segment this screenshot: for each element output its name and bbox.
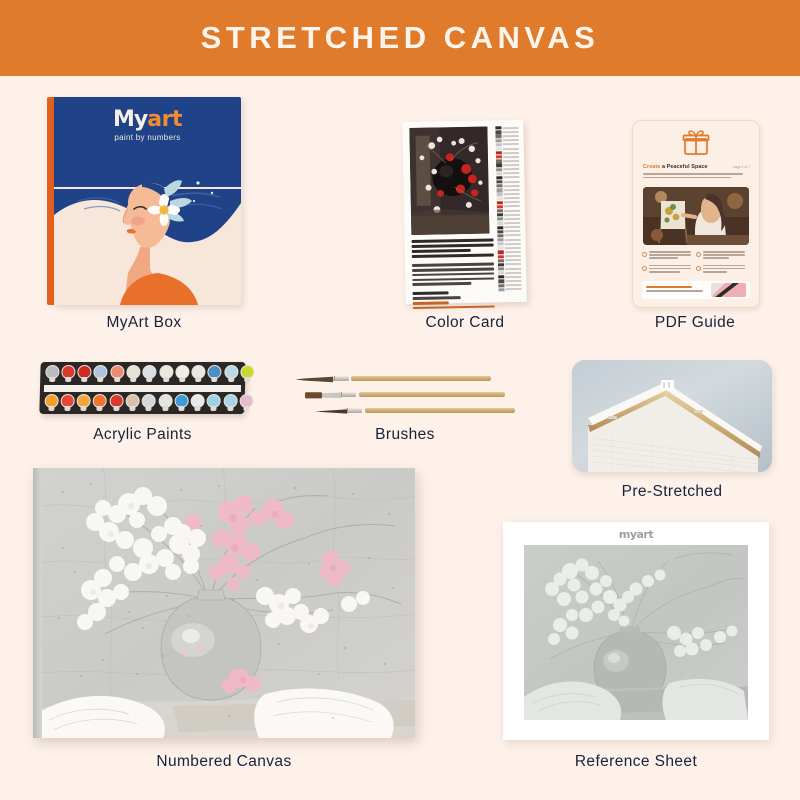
paint-pot-tab xyxy=(130,377,136,382)
color-swatch-chip xyxy=(496,151,502,154)
card-contact-line xyxy=(413,305,495,309)
reference-sheet-paper: myart xyxy=(503,522,769,740)
paint-pot xyxy=(92,394,107,411)
acrylic-paints-image xyxy=(40,362,245,414)
paint-pot xyxy=(223,394,238,411)
reference-sheet-artwork xyxy=(524,545,748,720)
color-swatch-chip xyxy=(496,164,502,167)
paint-pot-tab xyxy=(178,406,184,411)
color-swatch-chip xyxy=(497,213,503,216)
color-swatch-number xyxy=(505,259,521,261)
card-total-line xyxy=(413,292,449,296)
pre-stretched-image xyxy=(572,360,772,472)
color-swatch-number xyxy=(504,230,520,232)
color-swatch-chip xyxy=(496,155,502,158)
color-swatch-number xyxy=(503,176,519,178)
color-swatch-chip xyxy=(497,222,503,225)
color-swatch-number xyxy=(505,288,521,290)
bullet-dot-icon xyxy=(696,266,701,271)
color-swatch-chip xyxy=(497,234,503,237)
color-swatch-number xyxy=(503,181,519,183)
paint-pot-tab xyxy=(212,377,218,382)
brushes-image xyxy=(295,370,515,418)
paint-pot xyxy=(239,394,254,411)
numbered-canvas-artwork xyxy=(33,468,415,738)
color-swatch-chip xyxy=(498,267,504,270)
pdf-bullet-item xyxy=(696,251,745,261)
paint-pot xyxy=(60,365,75,382)
color-swatch-chip xyxy=(496,160,502,163)
paint-pot-tab xyxy=(48,406,54,411)
color-swatch-number xyxy=(505,255,521,257)
color-swatch-number xyxy=(503,164,519,166)
paint-pot-tab xyxy=(114,377,120,382)
card-sku-line xyxy=(413,296,461,300)
color-swatch-number xyxy=(503,189,519,191)
color-swatch-chip xyxy=(497,205,503,208)
pdf-subtext-line xyxy=(643,173,743,175)
card-note-line xyxy=(412,272,494,276)
pdf-bullet-item xyxy=(696,265,745,275)
pdf-photo xyxy=(643,187,749,245)
paint-pot xyxy=(141,394,156,411)
paint-pot-tab xyxy=(244,377,250,382)
bullet-dot-icon xyxy=(696,252,701,257)
color-swatch-number xyxy=(502,139,518,141)
pdf-heading-accent: Create xyxy=(643,164,660,170)
paint-pot xyxy=(206,394,221,411)
paint-pot xyxy=(43,394,58,411)
card-note-line xyxy=(412,263,494,267)
paint-pot-tab xyxy=(243,406,249,411)
paint-pot-tab xyxy=(227,406,233,411)
pdf-tip-line xyxy=(646,290,703,292)
color-swatch-number xyxy=(502,127,518,129)
paint-pot xyxy=(76,394,91,411)
label-reference-sheet: Reference Sheet xyxy=(503,753,769,771)
color-swatch-number xyxy=(504,210,520,212)
paint-pot-tab xyxy=(65,377,71,382)
pdf-guide-image: Create a Peaceful Space page 1 of 7 xyxy=(632,120,758,306)
paint-pot-tab xyxy=(81,377,87,382)
card-happy-line xyxy=(413,301,449,304)
paint-pot-tab xyxy=(146,377,152,382)
color-swatch-number xyxy=(504,243,520,245)
paint-pot xyxy=(126,365,141,382)
brush-tip xyxy=(315,408,347,415)
paint-pot-tab xyxy=(49,377,55,382)
label-myart-box: MyArt Box xyxy=(47,314,241,332)
pdf-tip-thumbnail xyxy=(711,283,746,297)
color-swatch-chip xyxy=(496,180,502,183)
paint-pot xyxy=(223,365,238,382)
brush-flat xyxy=(305,392,505,398)
color-swatch-chip xyxy=(496,135,502,138)
pdf-bullet-item xyxy=(642,265,691,275)
paint-pot-tab xyxy=(146,406,152,411)
color-swatch-number xyxy=(503,172,519,174)
color-swatch-chip xyxy=(498,251,504,254)
color-swatch-number xyxy=(505,263,521,265)
pdf-subtext xyxy=(643,173,743,180)
color-swatch-number xyxy=(505,284,521,286)
color-swatch-chip xyxy=(497,189,503,192)
color-swatch-chip xyxy=(498,284,504,287)
label-numbered-canvas: Numbered Canvas xyxy=(33,753,415,771)
color-swatch-number xyxy=(502,143,518,145)
pdf-heading: Create a Peaceful Space xyxy=(643,164,708,170)
color-swatch-chip xyxy=(496,168,502,171)
color-swatch-chip xyxy=(498,242,504,245)
paint-pot-tab xyxy=(64,406,70,411)
paint-pot-tab xyxy=(113,406,119,411)
color-swatch-number xyxy=(504,226,520,228)
brush-round-fine xyxy=(315,408,515,414)
label-color-card: Color Card xyxy=(390,314,540,332)
color-swatch-number xyxy=(503,168,519,170)
color-swatch-chip xyxy=(497,193,503,196)
logo-art: art xyxy=(147,107,182,132)
color-card-sheet xyxy=(402,120,526,304)
bullet-dot-icon xyxy=(642,252,647,257)
color-swatch-chip xyxy=(498,238,504,241)
color-swatch-chip xyxy=(497,226,503,229)
brush-round-small xyxy=(295,376,491,382)
color-swatch-number xyxy=(504,205,520,207)
box-face: Myart paint by numbers xyxy=(54,97,241,305)
color-swatch-chip xyxy=(495,131,501,134)
color-swatch-chip xyxy=(496,143,502,146)
paint-pot-tab xyxy=(195,406,201,411)
color-swatch-number xyxy=(503,185,519,187)
label-pre-stretched: Pre-Stretched xyxy=(572,483,772,501)
color-swatch-number xyxy=(503,152,519,154)
color-swatch-number xyxy=(502,147,518,149)
myart-box-image: Myart paint by numbers xyxy=(47,97,241,305)
color-swatch-chip xyxy=(498,280,504,283)
color-swatch-chip xyxy=(498,263,504,266)
paint-pot-tab xyxy=(97,406,103,411)
card-note-line xyxy=(412,282,471,286)
paint-pot xyxy=(142,365,157,382)
pdf-tip-accent-line xyxy=(646,286,692,288)
card-column-b-line xyxy=(412,244,494,248)
paint-pot xyxy=(190,394,205,411)
label-acrylic-paints: Acrylic Paints xyxy=(30,426,255,444)
color-swatch-number xyxy=(503,160,519,162)
color-swatch-number xyxy=(504,222,520,224)
header-banner: STRETCHED CANVAS xyxy=(0,0,800,76)
paint-pot-tab xyxy=(129,406,135,411)
gift-icon xyxy=(681,128,711,156)
color-swatch-chip xyxy=(498,247,504,250)
brush-tip xyxy=(295,376,333,383)
color-card-swatch-column xyxy=(495,126,521,292)
card-column-c-line xyxy=(412,249,471,253)
logo-my: My xyxy=(113,107,147,132)
paint-pot xyxy=(158,365,173,382)
paint-pot xyxy=(240,365,255,382)
pdf-tip-box xyxy=(642,281,750,299)
canvas-side-edge xyxy=(33,468,42,738)
color-swatch-chip xyxy=(497,209,503,212)
color-swatch-number xyxy=(503,193,519,195)
color-swatch-chip xyxy=(495,126,501,129)
paint-pot xyxy=(44,365,59,382)
paint-pot xyxy=(109,365,124,382)
card-column-d-line xyxy=(412,254,494,258)
paint-pot xyxy=(60,394,75,411)
card-note-line xyxy=(412,268,494,272)
numbered-canvas-face xyxy=(33,468,415,738)
paint-pot-tab xyxy=(80,406,86,411)
pdf-subtext-line xyxy=(643,177,731,179)
paint-pot xyxy=(157,394,172,411)
brush-tip xyxy=(305,391,341,400)
color-swatch-number xyxy=(504,214,520,216)
pdf-heading-rest: a Peaceful Space xyxy=(662,164,708,170)
color-swatch-chip xyxy=(497,197,503,200)
pdf-guide-sheet: Create a Peaceful Space page 1 of 7 xyxy=(632,120,760,308)
color-swatch-chip xyxy=(498,276,504,279)
paint-pot xyxy=(174,394,189,411)
numbered-canvas-image xyxy=(33,468,415,738)
color-swatch-number xyxy=(505,268,521,270)
color-swatch-number xyxy=(502,135,518,137)
color-swatch-number xyxy=(504,234,520,236)
paint-pot xyxy=(125,394,140,411)
reference-sheet-image: myart xyxy=(503,522,769,740)
color-swatch-chip xyxy=(496,184,502,187)
color-swatch-chip xyxy=(496,139,502,142)
box-logo: Myart paint by numbers xyxy=(54,107,241,142)
pdf-bullet-item xyxy=(642,251,691,261)
paint-pot xyxy=(191,365,206,382)
color-card-photo xyxy=(409,127,489,235)
tray-label-strip xyxy=(44,385,241,392)
paint-tray xyxy=(39,362,245,414)
logo-tagline: paint by numbers xyxy=(54,133,241,142)
paint-pot xyxy=(93,365,108,382)
paint-pot xyxy=(77,365,92,382)
color-swatch-chip xyxy=(497,230,503,233)
color-card-image xyxy=(404,121,525,303)
paint-pot-tab xyxy=(211,406,217,411)
color-swatch-chip xyxy=(496,147,502,150)
paint-pot-tab xyxy=(98,377,104,382)
color-swatch-chip xyxy=(498,288,504,291)
paint-pot-tab xyxy=(195,377,201,382)
card-column-a-line xyxy=(412,238,494,242)
color-swatch-chip xyxy=(498,271,504,274)
paint-pot-tab xyxy=(163,377,169,382)
pdf-bullet-list xyxy=(642,251,750,274)
paint-pot-tab xyxy=(228,377,234,382)
color-swatch-number xyxy=(504,239,520,241)
paint-pot-tab xyxy=(179,377,185,382)
pre-stretched-photo xyxy=(572,360,772,472)
color-card-text xyxy=(412,238,495,311)
reference-sheet-logo: myart xyxy=(503,528,769,541)
paint-pot-row-bottom xyxy=(43,394,254,411)
paint-pot xyxy=(207,365,222,382)
color-swatch-chip xyxy=(496,172,502,175)
color-swatch-chip xyxy=(498,255,504,258)
color-swatch-chip xyxy=(497,201,503,204)
color-swatch-chip xyxy=(496,176,502,179)
color-swatch-number xyxy=(503,201,519,203)
color-swatch-chip xyxy=(498,259,504,262)
color-swatch-number xyxy=(503,156,519,158)
color-swatch-chip xyxy=(497,218,503,221)
color-swatch-number xyxy=(504,251,520,253)
bullet-dot-icon xyxy=(642,266,647,271)
color-swatch-number xyxy=(502,131,518,133)
color-swatch-number xyxy=(505,276,521,278)
color-swatch-number xyxy=(503,197,519,199)
label-pdf-guide: PDF Guide xyxy=(632,314,758,332)
product-infographic: STRETCHED CANVAS xyxy=(0,0,800,800)
paint-pot xyxy=(175,365,190,382)
paint-pot xyxy=(109,394,124,411)
color-swatch-number xyxy=(505,280,521,282)
color-swatch-number xyxy=(504,218,520,220)
pdf-page-number: page 1 of 7 xyxy=(733,165,750,169)
label-brushes: Brushes xyxy=(315,426,495,444)
page-title: STRETCHED CANVAS xyxy=(201,20,600,56)
paint-pot-tab xyxy=(162,406,168,411)
card-note-line xyxy=(412,277,494,281)
pdf-tip-text xyxy=(646,286,711,294)
paint-pot-row-top xyxy=(44,365,255,382)
color-swatch-number xyxy=(504,247,520,249)
color-swatch-number xyxy=(505,272,521,274)
color-swatch-row xyxy=(498,287,521,291)
